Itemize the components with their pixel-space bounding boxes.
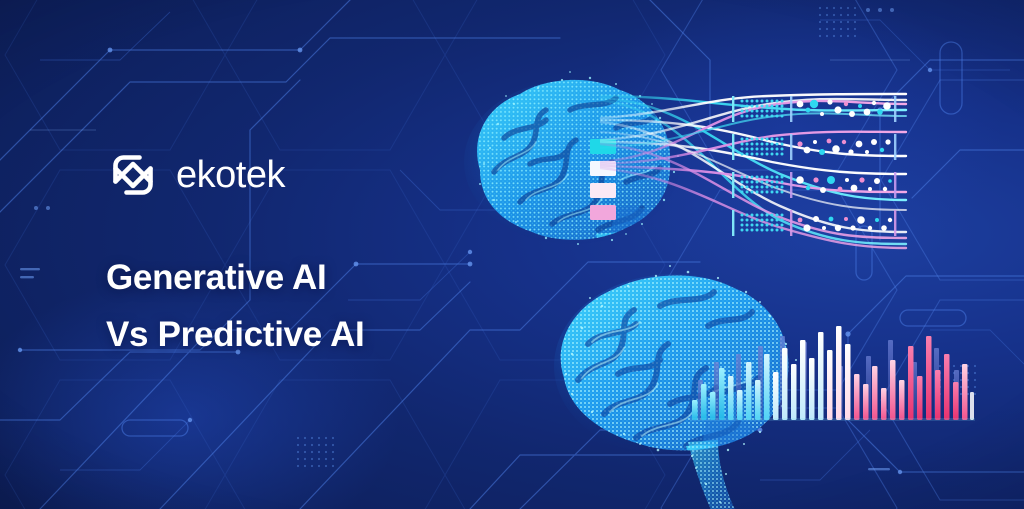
data-panel-row — [732, 172, 896, 198]
banner-content: ekotek Generative AI Vs Predictive AI — [106, 146, 536, 363]
ai-comparison-banner: ekotek Generative AI Vs Predictive AI — [0, 0, 1024, 509]
data-panel-row — [732, 210, 896, 236]
ekotek-infinity-knot-logo-icon — [106, 148, 160, 202]
data-panel-row — [732, 96, 896, 122]
headline-line-1: Generative AI — [106, 250, 536, 307]
data-panel-row — [732, 134, 896, 160]
page-title: Generative AI Vs Predictive AI — [106, 250, 536, 363]
predictive-waveform-chart — [690, 318, 975, 428]
brand-lockup[interactable]: ekotek — [106, 146, 536, 204]
brand-wordmark: ekotek — [176, 156, 285, 194]
headline-line-2: Vs Predictive AI — [106, 307, 536, 364]
data-readout-panels — [722, 92, 902, 252]
